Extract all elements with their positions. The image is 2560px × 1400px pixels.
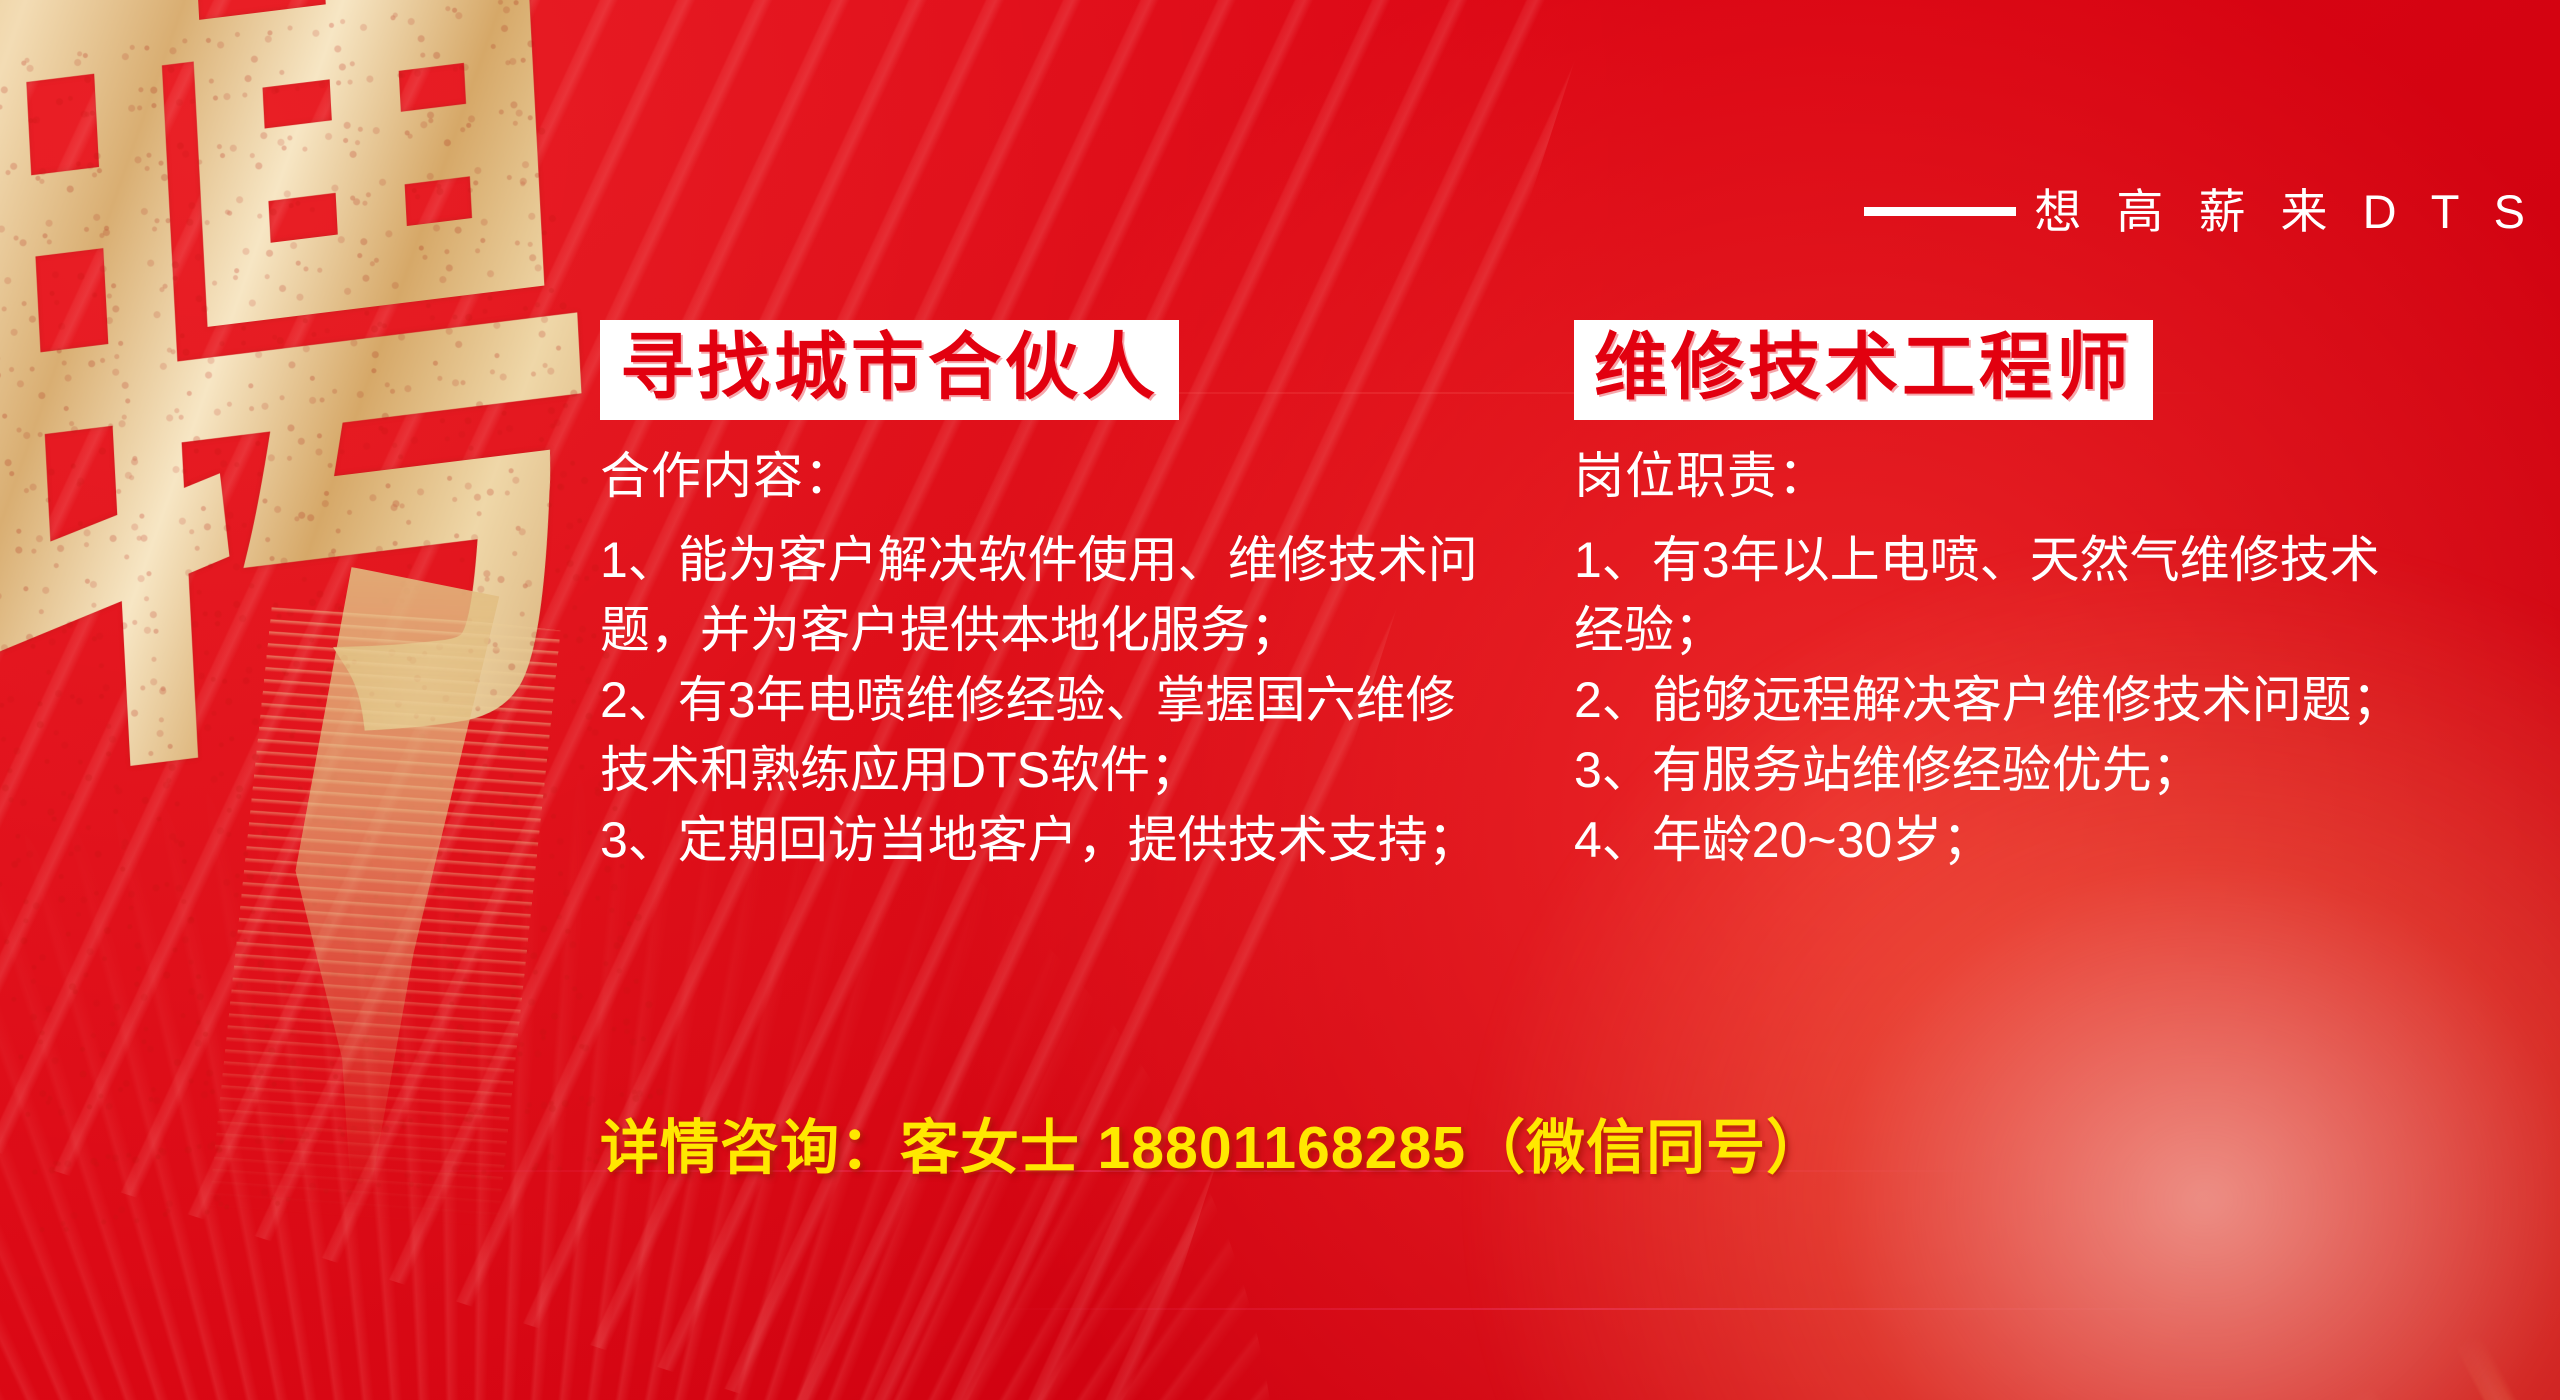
list-item: 1、有3年以上电喷、天然气维修技术 bbox=[1574, 525, 2282, 595]
recruitment-poster: 聘 想 高 薪 来 D T S 寻找城市合伙人 合作内容： 1、能为客户解决软件… bbox=[0, 0, 2560, 1400]
list-item: 2、有3年电喷维修经验、掌握国六维修 bbox=[600, 665, 1308, 735]
contact-line: 详情咨询：客女士 18801168285（微信同号） bbox=[600, 1100, 1826, 1185]
job-title-engineer: 维修技术工程师 bbox=[1594, 327, 2133, 409]
tagline: 想 高 薪 来 D T S bbox=[1864, 188, 2536, 235]
job-title-partner: 寻找城市合伙人 bbox=[620, 327, 1159, 409]
tagline-dash-icon bbox=[1864, 207, 2016, 216]
job-column-partner: 寻找城市合伙人 合作内容： 1、能为客户解决软件使用、维修技术问 题，并为客户提… bbox=[600, 320, 1308, 875]
list-item: 题，并为客户提供本地化服务； bbox=[600, 595, 1308, 665]
list-item: 3、定期回访当地客户，提供技术支持； bbox=[600, 805, 1308, 875]
job-title-badge-partner: 寻找城市合伙人 bbox=[600, 320, 1179, 420]
requirement-list-engineer: 1、有3年以上电喷、天然气维修技术 经验； 2、能够远程解决客户维修技术问题； … bbox=[1574, 525, 2282, 875]
list-item: 经验； bbox=[1574, 595, 2282, 665]
job-columns: 寻找城市合伙人 合作内容： 1、能为客户解决软件使用、维修技术问 题，并为客户提… bbox=[600, 320, 2300, 875]
job-column-engineer: 维修技术工程师 岗位职责： 1、有3年以上电喷、天然气维修技术 经验； 2、能够… bbox=[1574, 320, 2282, 875]
requirement-list-partner: 1、能为客户解决软件使用、维修技术问 题，并为客户提供本地化服务； 2、有3年电… bbox=[600, 525, 1308, 875]
list-item: 3、有服务站维修经验优先； bbox=[1574, 735, 2282, 805]
list-item: 技术和熟练应用DTS软件； bbox=[600, 735, 1308, 805]
list-item: 1、能为客户解决软件使用、维修技术问 bbox=[600, 525, 1308, 595]
section-label-responsibilities: 岗位职责： bbox=[1574, 446, 2282, 507]
section-label-cooperation: 合作内容： bbox=[600, 446, 1308, 507]
list-item: 4、年龄20~30岁； bbox=[1574, 805, 2282, 875]
job-title-badge-engineer: 维修技术工程师 bbox=[1574, 320, 2153, 420]
tagline-text: 想 高 薪 来 D T S bbox=[2034, 188, 2536, 235]
list-item: 2、能够远程解决客户维修技术问题； bbox=[1574, 665, 2282, 735]
